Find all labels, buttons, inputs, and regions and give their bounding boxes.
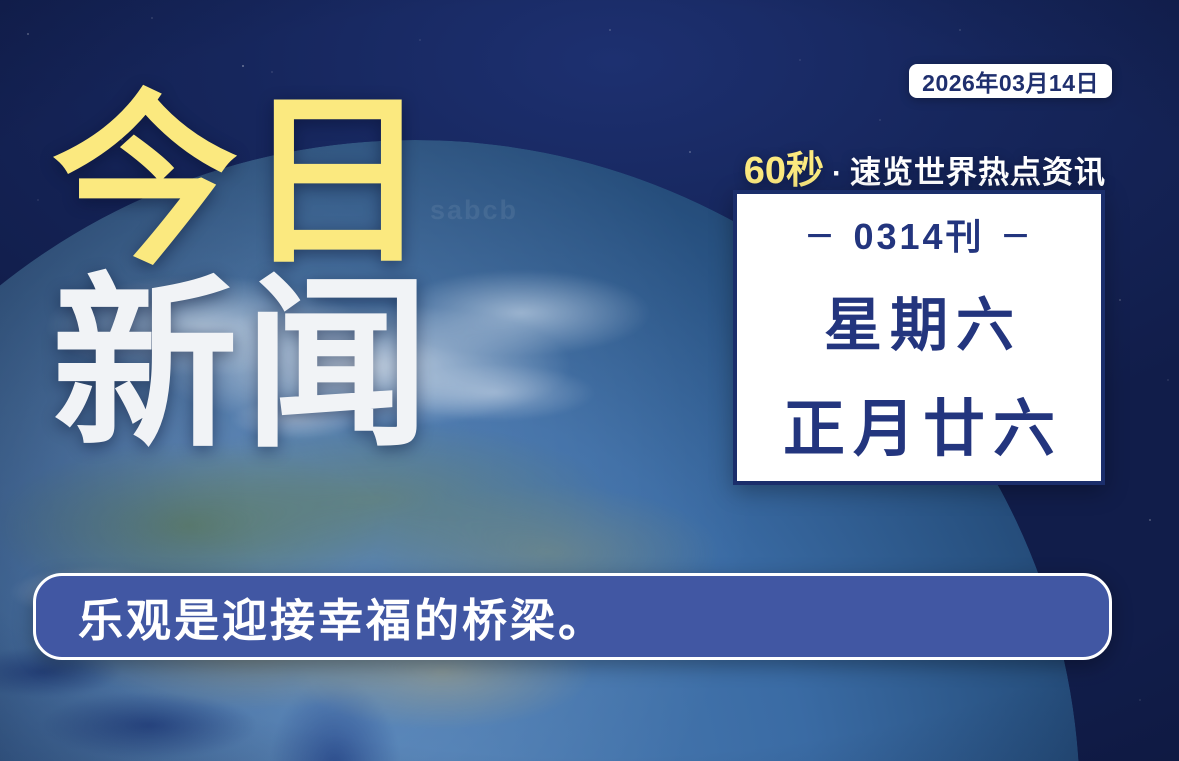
tagline: 60秒 · 速览世界热点资讯 [744, 139, 1106, 194]
date-badge: 2026年03月14日 [909, 64, 1112, 98]
lunar-date-label: 正月廿六 [775, 378, 1063, 468]
date-info-card: － 0314刊 － 星期六 正月廿六 [733, 190, 1105, 485]
title-line-1: 今日 [52, 95, 436, 272]
tagline-highlight: 60秒 [744, 139, 824, 194]
title-line-2: 新闻 [52, 278, 436, 455]
tagline-separator: · [830, 157, 844, 191]
quote-text: 乐观是迎接幸福的桥梁。 [78, 584, 606, 649]
issue-line: － 0314刊 － [804, 208, 1033, 260]
news-poster: sabcb 今日 新闻 2026年03月14日 60秒 · 速览世界热点资讯 －… [0, 0, 1179, 761]
background-watermark: sabcb [430, 195, 600, 226]
weekday-label: 星期六 [816, 278, 1022, 362]
page-title: 今日 新闻 [52, 95, 436, 454]
issue-number: 0314刊 [853, 208, 984, 260]
quote-banner: 乐观是迎接幸福的桥梁。 [33, 573, 1112, 660]
tagline-text: 速览世界热点资讯 [850, 147, 1106, 192]
issue-dash-right: － [1001, 212, 1034, 256]
issue-dash-left: － [804, 212, 837, 256]
